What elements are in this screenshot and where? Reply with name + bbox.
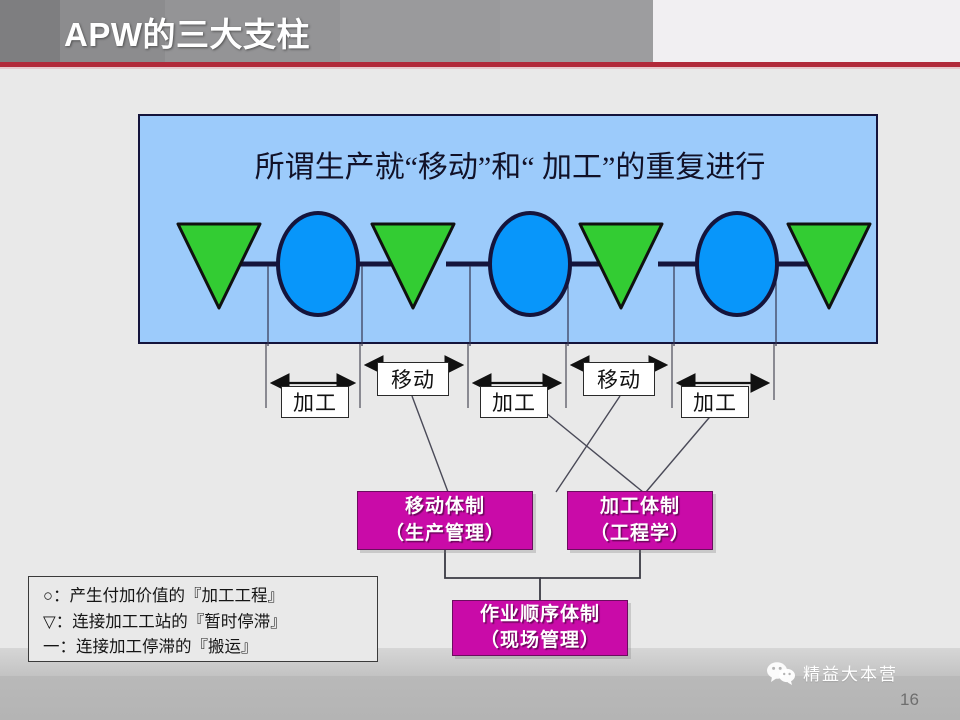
connector-process3-to-process-system xyxy=(646,412,714,492)
sequence-paren-close: 管理） xyxy=(540,630,600,651)
step-box-label: 加工 xyxy=(693,387,737,417)
connector-process-to-sequence xyxy=(540,550,640,578)
step-box-move-1[interactable]: 移动 xyxy=(377,362,449,396)
step-box-process-3[interactable]: 加工 xyxy=(681,386,749,418)
watermark: 精益大本营 xyxy=(766,660,898,685)
system-box-line1: 加工体制 xyxy=(600,494,680,520)
page-number: 16 xyxy=(900,690,919,710)
system-box-process[interactable]: 加工体制 （工程学） xyxy=(567,491,713,550)
connector-move2-to-move-system xyxy=(556,396,620,492)
header-band-4 xyxy=(340,0,500,62)
legend-row-line: 一：连接加工停滞的『搬运』 xyxy=(43,634,377,660)
step-box-move-2[interactable]: 移动 xyxy=(583,362,655,396)
legend-row-circle: ○：产生付加价值的『加工工程』 xyxy=(43,583,377,609)
header-band-1 xyxy=(0,0,60,62)
system-box-line2: （工程学） xyxy=(590,521,690,547)
step-box-process-2[interactable]: 加工 xyxy=(480,386,548,418)
header-rule-highlight xyxy=(0,67,960,69)
system-box-sequence[interactable]: 作业顺序体制 （现场管理） xyxy=(452,600,628,656)
circle-1 xyxy=(278,213,358,315)
header-band-6 xyxy=(653,0,960,62)
system-box-line2: （现场管理） xyxy=(480,628,600,654)
slide-header: APW的三大支柱 xyxy=(0,0,960,62)
wechat-icon xyxy=(766,661,796,685)
step-box-label: 移动 xyxy=(597,364,641,394)
sequence-emphasis: 现场 xyxy=(500,630,540,651)
legend-box: ○：产生付加价值的『加工工程』 ▽：连接加工工站的『暂时停滞』 一：连接加工停滞… xyxy=(28,576,378,662)
system-box-line1: 作业顺序体制 xyxy=(480,602,600,628)
step-box-label: 加工 xyxy=(492,387,536,417)
flow-shapes xyxy=(140,116,880,346)
header-band-5 xyxy=(500,0,653,62)
sequence-paren-open: （ xyxy=(480,630,500,651)
page-title: APW的三大支柱 xyxy=(64,8,310,56)
legend-row-triangle: ▽：连接加工工站的『暂时停滞』 xyxy=(43,609,377,635)
connector-move-to-sequence xyxy=(445,550,540,600)
circle-3 xyxy=(697,213,777,315)
circle-2 xyxy=(490,213,570,315)
connector-move1-to-move-system xyxy=(412,396,448,492)
step-box-label: 移动 xyxy=(391,364,435,394)
production-flow-panel: 所谓生产就“移动”和“ 加工”的重复进行 xyxy=(138,114,878,344)
watermark-text: 精益大本营 xyxy=(803,660,898,685)
step-box-label: 加工 xyxy=(293,387,337,417)
step-box-process-1[interactable]: 加工 xyxy=(281,386,349,418)
connector-process2-to-process-system xyxy=(545,412,643,492)
system-box-move[interactable]: 移动体制 （生产管理） xyxy=(357,491,533,550)
system-box-line1: 移动体制 xyxy=(405,494,485,520)
system-box-line2: （生产管理） xyxy=(385,521,505,547)
